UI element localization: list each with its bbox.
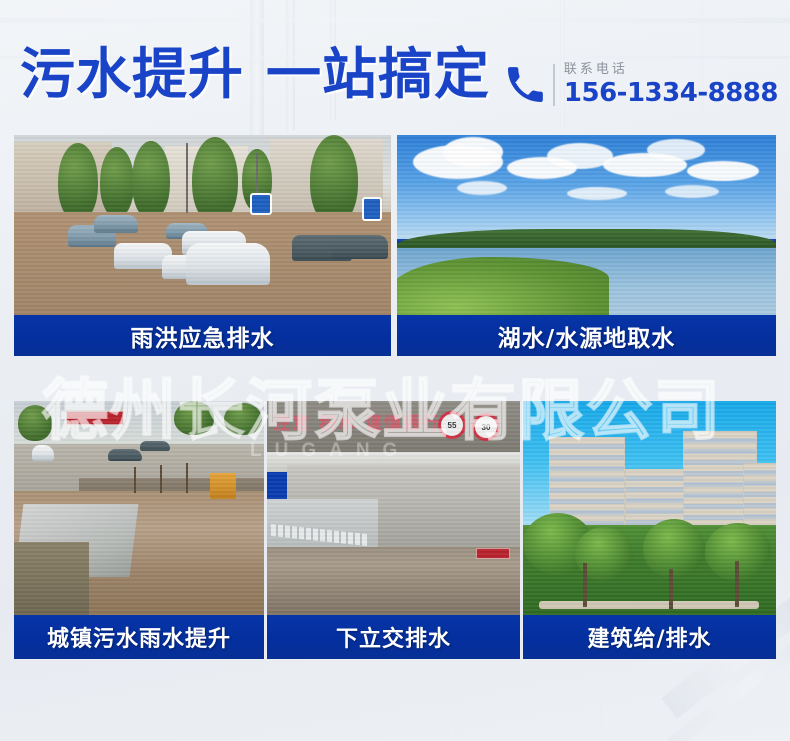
underpass-warning-text: 注意 积水 谨慎通行 bbox=[273, 409, 441, 434]
promo-page: 污水提升一站搞定 联系电话 156-1334-8888 bbox=[0, 0, 790, 741]
caption-lake-water-source: 湖水/水源地取水 bbox=[397, 315, 776, 356]
photo-lake bbox=[397, 135, 776, 315]
contact-block[interactable]: 联系电话 156-1334-8888 bbox=[505, 62, 778, 108]
card-flooded-street[interactable]: 雨洪应急排水 bbox=[14, 135, 391, 356]
photo-urban-pumping bbox=[14, 401, 264, 615]
phone-number[interactable]: 156-1334-8888 bbox=[564, 78, 778, 108]
speed-limit-sign-55: 55 bbox=[438, 411, 466, 439]
title-part-2: 一站搞定 bbox=[266, 42, 490, 106]
card-residential-buildings[interactable]: 建筑给/排水 bbox=[523, 401, 776, 659]
title-part-1: 污水提升 bbox=[20, 42, 244, 106]
card-lake-water-source[interactable]: 湖水/水源地取水 bbox=[397, 135, 776, 356]
card-urban-pumping[interactable]: 城镇污水雨水提升 bbox=[14, 401, 264, 659]
photo-flooded-street bbox=[14, 135, 391, 315]
divider bbox=[553, 64, 555, 106]
photo-residential bbox=[523, 401, 776, 615]
caption-flooded-street: 雨洪应急排水 bbox=[14, 315, 391, 356]
phone-icon bbox=[505, 65, 545, 105]
phone-label: 联系电话 bbox=[564, 62, 778, 78]
header: 污水提升一站搞定 联系电话 156-1334-8888 bbox=[0, 0, 790, 132]
caption-flooded-underpass: 下立交排水 bbox=[267, 615, 520, 659]
caption-residential-buildings: 建筑给/排水 bbox=[523, 615, 776, 659]
photo-underpass: 注意 积水 谨慎通行 55 30 bbox=[267, 401, 520, 615]
speed-limit-sign-30: 30 bbox=[472, 413, 500, 441]
caption-urban-pumping: 城镇污水雨水提升 bbox=[14, 615, 264, 659]
card-flooded-underpass[interactable]: 注意 积水 谨慎通行 55 30 下立交排水 bbox=[267, 401, 520, 659]
page-title: 污水提升一站搞定 bbox=[20, 44, 490, 104]
